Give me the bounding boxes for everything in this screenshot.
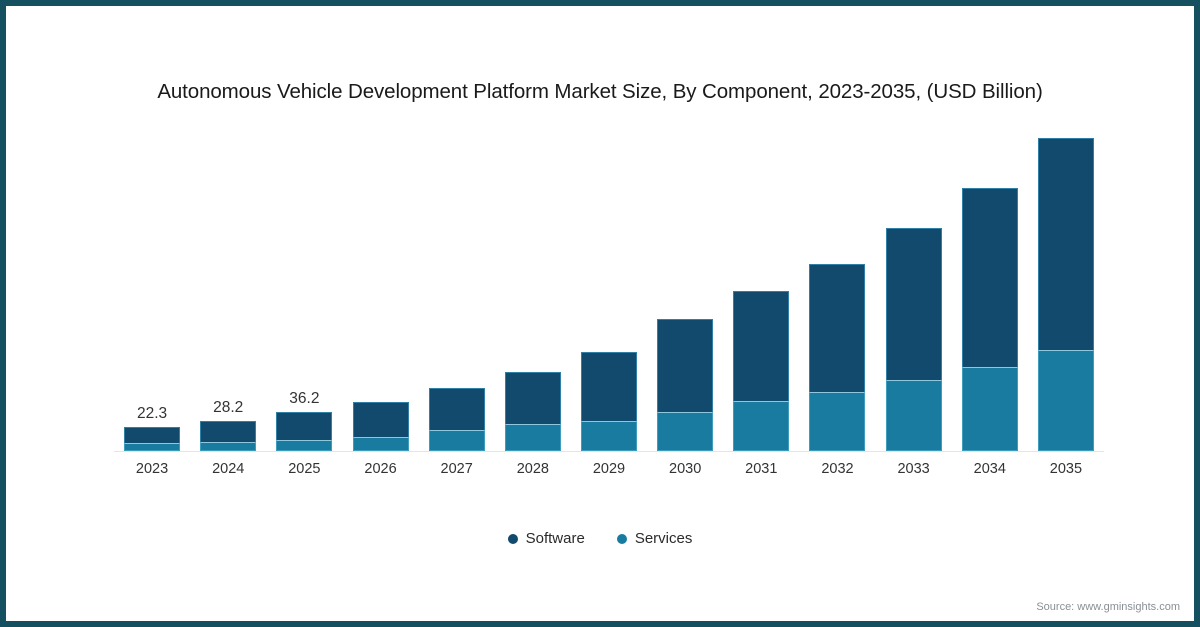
x-axis-baseline [114,451,1104,452]
bar-segment-services[interactable] [353,437,409,451]
bar-segment-services[interactable] [962,367,1018,451]
bar-segment-services[interactable] [200,442,256,451]
bar-segment-software[interactable] [1038,138,1094,350]
stacked-bar[interactable] [353,402,409,451]
stacked-bar[interactable] [124,427,180,451]
x-tick-label-2030: 2030 [650,461,720,477]
stacked-bar[interactable] [809,264,865,451]
legend-label: Software [526,530,585,547]
bar-group[interactable] [809,126,865,451]
bar-segment-services[interactable] [581,421,637,451]
bar-group[interactable] [505,126,561,451]
x-axis-tick-labels: 2023202420252026202720282029203020312032… [114,461,1104,485]
stacked-bar[interactable] [657,319,713,451]
x-tick-label-2029: 2029 [574,461,644,477]
plot-area: 22.328.236.2 [114,126,1104,451]
bar-segment-software[interactable] [429,388,485,430]
bar-group[interactable] [429,126,485,451]
bar-segment-software[interactable] [200,421,256,442]
x-tick-label-2033: 2033 [879,461,949,477]
stacked-bar[interactable] [429,388,485,451]
x-tick-label-2027: 2027 [422,461,492,477]
bar-segment-services[interactable] [809,392,865,451]
chart-figure: Autonomous Vehicle Development Platform … [0,0,1200,627]
bar-segment-services[interactable] [505,424,561,451]
bar-group[interactable] [353,126,409,451]
bar-segment-software[interactable] [657,319,713,412]
x-tick-label-2028: 2028 [498,461,568,477]
x-tick-label-2034: 2034 [955,461,1025,477]
x-tick-label-2024: 2024 [193,461,263,477]
legend-item-software[interactable]: Software [508,530,585,547]
legend-item-services[interactable]: Services [617,530,693,547]
legend-swatch-icon [508,534,518,544]
bar-segment-software[interactable] [353,402,409,437]
x-tick-label-2023: 2023 [117,461,187,477]
bar-segment-software[interactable] [581,352,637,421]
bar-group[interactable] [886,126,942,451]
bar-group[interactable] [962,126,1018,451]
bar-group[interactable]: 22.3 [124,126,180,451]
bar-segment-software[interactable] [733,291,789,401]
bar-value-label: 22.3 [137,405,167,423]
x-tick-label-2026: 2026 [346,461,416,477]
stacked-bar[interactable] [733,291,789,451]
legend-label: Services [635,530,693,547]
legend-swatch-icon [617,534,627,544]
chart-legend: SoftwareServices [6,530,1194,547]
x-tick-label-2032: 2032 [802,461,872,477]
x-tick-label-2031: 2031 [726,461,796,477]
bar-group[interactable] [657,126,713,451]
chart-title: Autonomous Vehicle Development Platform … [6,80,1194,104]
bar-segment-software[interactable] [809,264,865,392]
bar-segment-software[interactable] [505,372,561,424]
bar-group[interactable] [733,126,789,451]
stacked-bar[interactable] [886,228,942,451]
bar-segment-services[interactable] [276,440,332,451]
bar-segment-services[interactable] [124,443,180,451]
stacked-bar[interactable] [276,412,332,451]
bar-segment-software[interactable] [276,412,332,440]
bar-segment-services[interactable] [1038,350,1094,451]
chart-canvas: Autonomous Vehicle Development Platform … [6,6,1194,621]
bar-value-label: 36.2 [289,390,319,408]
stacked-bar[interactable] [505,372,561,451]
bar-group[interactable] [581,126,637,451]
x-tick-label-2025: 2025 [269,461,339,477]
stacked-bar[interactable] [200,421,256,451]
source-attribution: Source: www.gminsights.com [1036,601,1180,613]
bar-segment-software[interactable] [962,188,1018,367]
bar-segment-software[interactable] [886,228,942,380]
bar-group[interactable] [1038,126,1094,451]
bar-segment-software[interactable] [124,427,180,443]
bar-segment-services[interactable] [886,380,942,451]
bar-segment-services[interactable] [657,412,713,451]
stacked-bar[interactable] [1038,138,1094,451]
bar-group[interactable]: 28.2 [200,126,256,451]
bar-group[interactable]: 36.2 [276,126,332,451]
bar-segment-services[interactable] [429,430,485,451]
bar-value-label: 28.2 [213,399,243,417]
stacked-bar[interactable] [581,352,637,451]
stacked-bar[interactable] [962,188,1018,451]
bar-segment-services[interactable] [733,401,789,451]
x-tick-label-2035: 2035 [1031,461,1101,477]
